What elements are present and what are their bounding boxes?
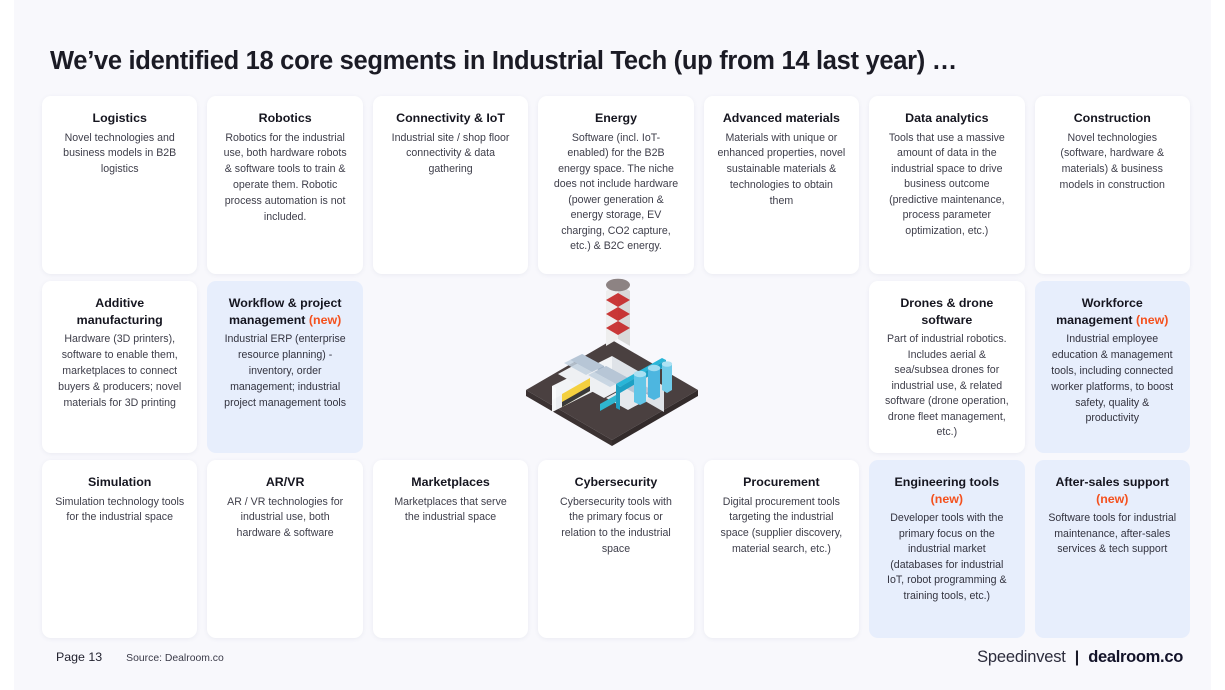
segment-card-title: Additive manufacturing — [53, 295, 186, 328]
segment-card-robotics[interactable]: Robotics Robotics for the industrial use… — [207, 96, 362, 274]
segment-card-additive-manufacturing[interactable]: Additive manufacturing Hardware (3D prin… — [42, 281, 197, 453]
segment-card-title: Construction — [1046, 110, 1179, 127]
source-label: Source: Dealroom.co — [126, 653, 224, 664]
segment-card-title: Procurement — [715, 474, 848, 491]
slide: We’ve identified 18 core segments in Ind… — [0, 0, 1225, 690]
segment-row-1: Logistics Novel technologies and busines… — [42, 96, 1190, 274]
segment-card-drones-drone-software[interactable]: Drones & drone software Part of industri… — [869, 281, 1024, 453]
segment-card-placeholder — [704, 281, 859, 453]
segment-card-after-sales-support[interactable]: After-sales support (new) Software tools… — [1035, 460, 1190, 638]
segment-card-procurement[interactable]: Procurement Digital procurement tools ta… — [704, 460, 859, 638]
segment-card-title-text: Engineering tools — [895, 475, 1000, 489]
segment-card-workforce-management[interactable]: Workforce management (new) Industrial em… — [1035, 281, 1190, 453]
segment-card-title: AR/VR — [218, 474, 351, 491]
segment-card-title-text: Workforce management — [1056, 296, 1143, 327]
segment-card-title: Cybersecurity — [549, 474, 682, 491]
segment-card-description: Marketplaces that serve the industrial s… — [384, 495, 517, 527]
new-badge: (new) — [1136, 313, 1168, 327]
segment-card-description: Hardware (3D printers), software to enab… — [53, 332, 186, 411]
segment-card-description: Industrial employee education & manageme… — [1046, 332, 1179, 427]
segment-card-title: After-sales support (new) — [1046, 474, 1179, 507]
segment-card-title: Connectivity & IoT — [384, 110, 517, 127]
segment-card-description: Materials with unique or enhanced proper… — [715, 131, 848, 210]
segment-card-description: Industrial ERP (enterprise resource plan… — [218, 332, 351, 411]
segment-card-description: Simulation technology tools for the indu… — [53, 495, 186, 527]
segment-card-title: Engineering tools (new) — [880, 474, 1013, 507]
segment-card-description: Software tools for industrial maintenanc… — [1046, 511, 1179, 558]
segment-card-description: Novel technologies and business models i… — [53, 131, 186, 179]
segment-card-workflow-project-management[interactable]: Workflow & project management (new) Indu… — [207, 281, 362, 453]
segment-card-description: Software (incl. IoT-enabled) for the B2B… — [549, 131, 682, 256]
segment-card-description: Part of industrial robotics. Includes ae… — [880, 332, 1013, 441]
segment-card-title: Data analytics — [880, 110, 1013, 127]
segment-card-ar-vr[interactable]: AR/VR AR / VR technologies for industria… — [207, 460, 362, 638]
segment-card-title-text: After-sales support — [1055, 475, 1169, 489]
page-title: We’ve identified 18 core segments in Ind… — [50, 46, 1170, 77]
segment-card-title: Workforce management (new) — [1046, 295, 1179, 328]
segment-card-description: Novel technologies (software, hardware &… — [1046, 131, 1179, 195]
segment-card-title: Drones & drone software — [880, 295, 1013, 328]
segment-card-marketplaces[interactable]: Marketplaces Marketplaces that serve the… — [373, 460, 528, 638]
dealroom-logo: dealroom.co — [1088, 648, 1183, 667]
footer-left: Page 13 Source: Dealroom.co — [56, 650, 224, 664]
segment-card-simulation[interactable]: Simulation Simulation technology tools f… — [42, 460, 197, 638]
segment-card-description: Industrial site / shop floor connectivit… — [384, 131, 517, 179]
segment-card-description: Cybersecurity tools with the primary foc… — [549, 495, 682, 559]
segment-row-3: Simulation Simulation technology tools f… — [42, 460, 1190, 638]
segment-card-connectivity-iot[interactable]: Connectivity & IoT Industrial site / sho… — [373, 96, 528, 274]
segment-card-engineering-tools[interactable]: Engineering tools (new) Developer tools … — [869, 460, 1024, 638]
segment-card-cybersecurity[interactable]: Cybersecurity Cybersecurity tools with t… — [538, 460, 693, 638]
footer-branding: Speedinvest | dealroom.co — [977, 648, 1183, 667]
segment-card-data-analytics[interactable]: Data analytics Tools that use a massive … — [869, 96, 1024, 274]
segment-card-title: Energy — [549, 110, 682, 127]
segment-card-energy[interactable]: Energy Software (incl. IoT-enabled) for … — [538, 96, 693, 274]
brand-divider: | — [1075, 649, 1079, 667]
segment-card-title: Advanced materials — [715, 110, 848, 127]
segment-card-logistics[interactable]: Logistics Novel technologies and busines… — [42, 96, 197, 274]
segment-card-title: Simulation — [53, 474, 186, 491]
segment-card-description: Developer tools with the primary focus o… — [880, 511, 1013, 604]
segment-card-description: AR / VR technologies for industrial use,… — [218, 495, 351, 543]
segment-card-title: Marketplaces — [384, 474, 517, 491]
segment-card-advanced-materials[interactable]: Advanced materials Materials with unique… — [704, 96, 859, 274]
segment-card-construction[interactable]: Construction Novel technologies (softwar… — [1035, 96, 1190, 274]
new-badge: (new) — [931, 492, 963, 506]
page-number: Page 13 — [56, 650, 102, 664]
segment-card-description: Robotics for the industrial use, both ha… — [218, 131, 351, 226]
segment-card-title: Logistics — [53, 110, 186, 127]
segment-card-title: Workflow & project management (new) — [218, 295, 351, 328]
speedinvest-logo: Speedinvest — [977, 648, 1066, 667]
segment-card-description: Tools that use a massive amount of data … — [880, 131, 1013, 240]
segment-card-description: Digital procurement tools targeting the … — [715, 495, 848, 559]
new-badge: (new) — [309, 313, 341, 327]
segment-card-title: Robotics — [218, 110, 351, 127]
segment-card-placeholder — [373, 281, 528, 453]
isometric-factory-illustration — [512, 278, 712, 458]
new-badge: (new) — [1096, 492, 1128, 506]
